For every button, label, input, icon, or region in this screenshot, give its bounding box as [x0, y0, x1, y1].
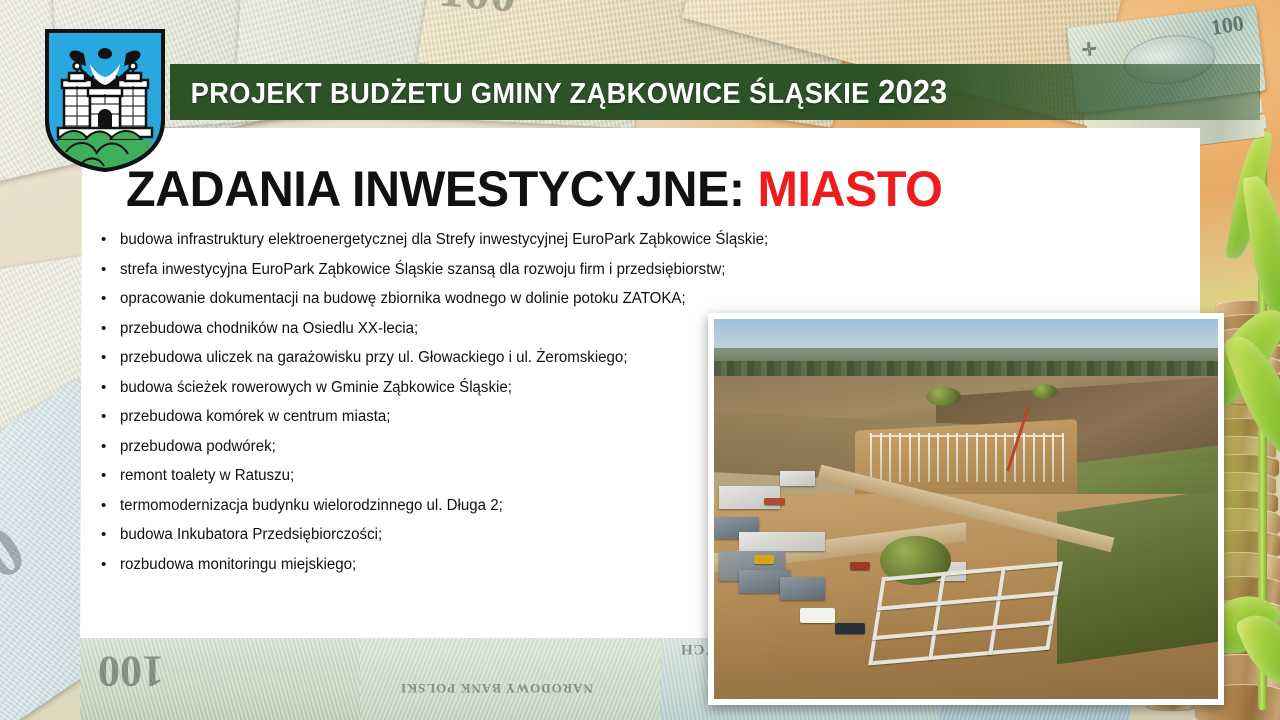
photo-image [714, 319, 1218, 699]
title-banner: PROJEKT BUDŻETU GMINY ZĄBKOWICE ŚLĄSKIE2… [170, 64, 1260, 120]
list-item: •opracowanie dokumentacji na budowę zbio… [96, 287, 736, 317]
investment-task-list: •budowa infrastruktury elektroenergetycz… [96, 228, 736, 582]
bullet-dot-icon: • [96, 553, 120, 576]
bullet-dot-icon: • [96, 523, 120, 546]
list-item: •budowa infrastruktury elektroenergetycz… [96, 228, 736, 258]
list-item-label: termomodernizacja budynku wielorodzinneg… [120, 494, 503, 517]
list-item: •przebudowa komórek w centrum miasta; [96, 405, 736, 435]
building-3 [739, 532, 825, 551]
bullet-dot-icon: • [96, 346, 120, 369]
bundle-denomination: 100 [1209, 10, 1246, 41]
banner-title: PROJEKT BUDŻETU GMINY ZĄBKOWICE ŚLĄSKIE2… [170, 73, 947, 111]
list-item: •remont toalety w Ratuszu; [96, 464, 736, 494]
steel-frame [870, 433, 1062, 482]
building-7 [780, 577, 825, 600]
bank-name-bottom: NARODOWY BANK POLSKI [400, 680, 593, 696]
banknote-denomination-bottom-1: 100 [98, 646, 164, 697]
truck-icon-2 [850, 562, 870, 570]
banner-year: 2023 [878, 73, 947, 110]
list-item: •termomodernizacja budynku wielorodzinne… [96, 494, 736, 524]
aerial-construction-site-photo [708, 313, 1224, 705]
list-item: •strefa inwestycyjna EuroPark Ząbkowice … [96, 258, 736, 288]
coat-of-arms [44, 28, 166, 173]
bullet-dot-icon: • [96, 494, 120, 517]
list-item-label: budowa Inkubatora Przedsiębiorczości; [120, 523, 382, 546]
list-item-label: przebudowa podwórek; [120, 435, 276, 458]
page-title-highlight: MIASTO [758, 161, 943, 217]
page-title: ZADANIA INWESTYCYJNE: MIASTO [126, 160, 942, 218]
list-item: •przebudowa uliczek na garażowisku przy … [96, 346, 736, 376]
bullet-dot-icon: • [96, 317, 120, 340]
van-icon [800, 608, 835, 623]
cross-icon: ✛ [1081, 39, 1099, 62]
list-item-label: budowa ścieżek rowerowych w Gminie Ząbko… [120, 376, 512, 399]
list-item-label: opracowanie dokumentacji na budowę zbior… [120, 287, 686, 310]
list-item-label: strefa inwestycyjna EuroPark Ząbkowice Ś… [120, 258, 725, 281]
list-item: •przebudowa chodników na Osiedlu XX-leci… [96, 317, 736, 347]
list-item-label: przebudowa komórek w centrum miasta; [120, 405, 390, 428]
banner-title-text: PROJEKT BUDŻETU GMINY ZĄBKOWICE ŚLĄSKIE [191, 78, 870, 110]
tree-3 [1032, 384, 1057, 399]
bullet-dot-icon: • [96, 405, 120, 428]
list-item: •przebudowa podwórek; [96, 435, 736, 465]
bullet-dot-icon: • [96, 464, 120, 487]
bullet-dot-icon: • [96, 435, 120, 458]
building-5 [780, 471, 815, 486]
car-icon [835, 623, 865, 634]
foundation-slabs [868, 561, 1063, 665]
bullet-dot-icon: • [96, 287, 120, 310]
list-item-label: budowa infrastruktury elektroenergetyczn… [120, 228, 768, 251]
excavator-icon [754, 555, 774, 565]
page-title-prefix: ZADANIA INWESTYCYJNE: [126, 161, 758, 217]
list-item-label: przebudowa uliczek na garażowisku przy u… [120, 346, 628, 369]
list-item: •budowa Inkubatora Przedsiębiorczości; [96, 523, 736, 553]
list-item-label: remont toalety w Ratuszu; [120, 464, 294, 487]
list-item-label: rozbudowa monitoringu miejskiego; [120, 553, 356, 576]
list-item: •budowa ścieżek rowerowych w Gminie Ząbk… [96, 376, 736, 406]
bullet-dot-icon: • [96, 258, 120, 281]
bullet-dot-icon: • [96, 228, 120, 251]
bullet-dot-icon: • [96, 376, 120, 399]
list-item: •rozbudowa monitoringu miejskiego; [96, 553, 736, 583]
list-item-label: przebudowa chodników na Osiedlu XX-lecia… [120, 317, 418, 340]
truck-icon [764, 498, 784, 506]
